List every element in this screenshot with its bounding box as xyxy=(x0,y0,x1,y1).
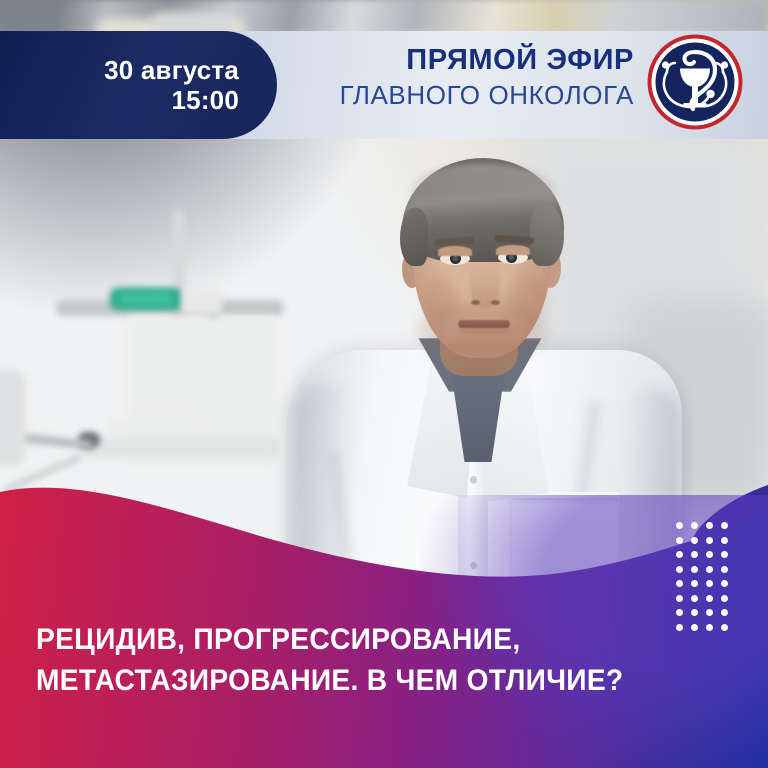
bottom-gradient-panel xyxy=(0,455,768,768)
cart-box xyxy=(182,288,222,314)
dot xyxy=(706,580,713,587)
medical-emblem-icon xyxy=(645,32,745,132)
dot xyxy=(706,624,713,631)
headline: РЕЦИДИВ, ПРОГРЕССИРОВАНИЕ, МЕТАСТАЗИРОВА… xyxy=(36,619,694,702)
dot xyxy=(676,522,683,529)
chin xyxy=(448,336,518,358)
promo-poster: 30 августа 15:00 ПРЯМОЙ ЭФИР ГЛАВНОГО ОН… xyxy=(0,0,768,768)
dot xyxy=(691,537,698,544)
cheek-right xyxy=(510,276,546,322)
dot xyxy=(706,522,713,529)
dot xyxy=(676,537,683,544)
banner-title-secondary: ГЛАВНОГО ОНКОЛОГА xyxy=(282,80,634,112)
banner-title-block: ПРЯМОЙ ЭФИР ГЛАВНОГО ОНКОЛОГА xyxy=(282,45,634,112)
dot xyxy=(706,595,713,602)
hair-side-right xyxy=(530,204,564,266)
date-time-badge: 30 августа 15:00 xyxy=(0,31,277,139)
mouth-shadow xyxy=(456,327,514,334)
dot xyxy=(676,580,683,587)
dot xyxy=(676,566,683,573)
gradient-shape xyxy=(0,455,768,768)
dot xyxy=(706,609,713,616)
green-tray-highlight xyxy=(118,292,174,306)
dot xyxy=(721,551,728,558)
dot xyxy=(706,537,713,544)
dot xyxy=(721,566,728,573)
dot xyxy=(706,566,713,573)
dot xyxy=(721,580,728,587)
headline-line-1: РЕЦИДИВ, ПРОГРЕССИРОВАНИЕ, xyxy=(36,619,694,660)
dot xyxy=(691,580,698,587)
dot xyxy=(721,624,728,631)
left-equipment xyxy=(0,370,26,466)
cheek-left xyxy=(424,278,458,322)
nostril-right xyxy=(491,300,500,305)
dot xyxy=(691,551,698,558)
dot xyxy=(691,566,698,573)
nostril-left xyxy=(471,300,480,305)
eyelid-right xyxy=(496,245,530,255)
dot xyxy=(721,609,728,616)
dot xyxy=(721,595,728,602)
eyelid-left xyxy=(438,246,472,256)
dot xyxy=(676,551,683,558)
dot xyxy=(676,609,683,616)
broadcast-date: 30 августа xyxy=(104,55,239,85)
dot xyxy=(691,609,698,616)
hair-side-left xyxy=(400,208,428,266)
dot xyxy=(676,595,683,602)
headline-line-2: МЕТАСТАЗИРОВАНИЕ. В ЧЕМ ОТЛИЧИЕ? xyxy=(36,660,694,701)
banner-title-primary: ПРЯМОЙ ЭФИР xyxy=(282,45,634,77)
cart-mid-shelf xyxy=(108,418,194,434)
dot xyxy=(706,551,713,558)
dot xyxy=(691,595,698,602)
dot xyxy=(691,522,698,529)
dot xyxy=(721,522,728,529)
dot xyxy=(721,537,728,544)
broadcast-time: 15:00 xyxy=(172,85,240,115)
